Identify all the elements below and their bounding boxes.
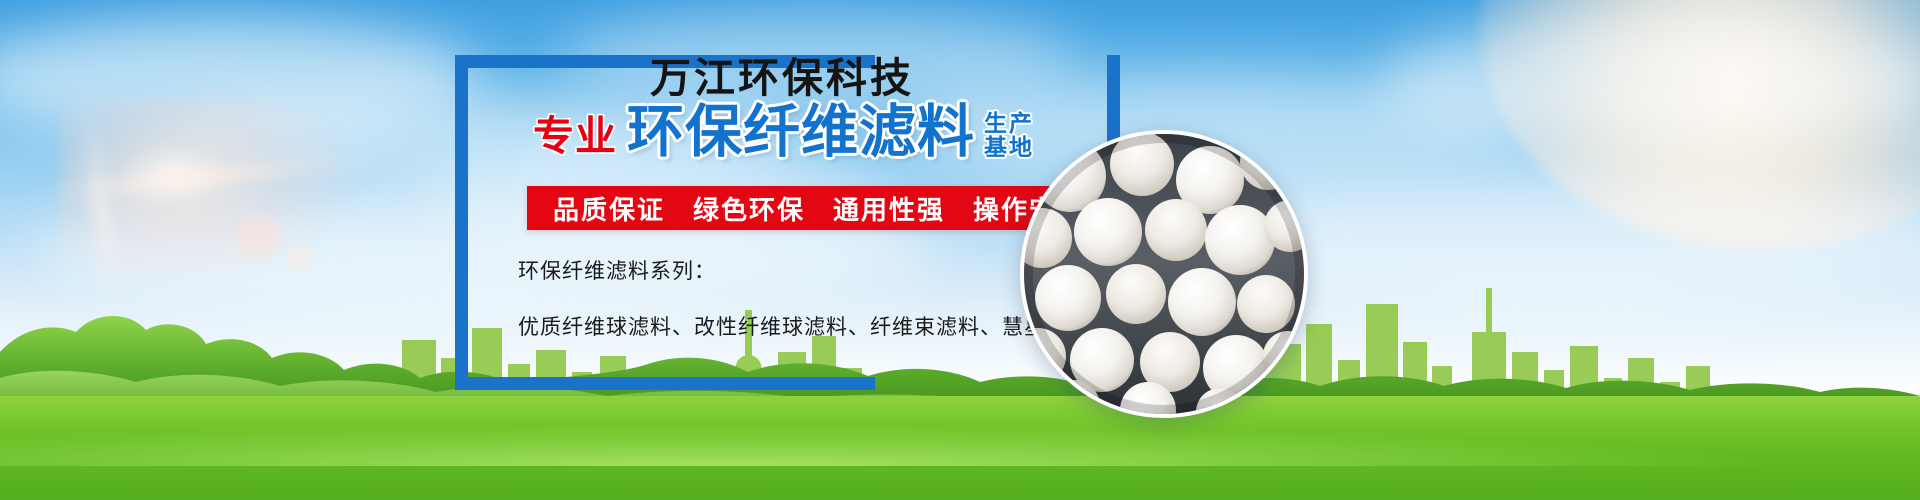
feature-bar: 品质保证 绿色环保 通用性强 操作安全 [527,186,1111,230]
company-name: 万江环保科技 [650,44,914,104]
headline-suffix-line2: 基地 [984,136,1034,159]
headline-suffix: 生产 基地 [984,112,1034,161]
headline-main: 环保纤维滤料 [627,104,975,161]
product-photo [1020,130,1308,418]
feature-item: 品质保证 [553,190,665,227]
headline-suffix-line1: 生产 [984,112,1034,135]
headline: 专业 环保纤维滤料 生产 基地 [533,104,1034,161]
sun-glow-decoration [1480,0,1920,250]
fiber-ball-filter-media-image [1024,134,1304,414]
headline-prefix: 专业 [533,116,617,161]
promo-banner: 万江环保科技 专业 环保纤维滤料 生产 基地 品质保证 绿色环保 通用性强 操作… [0,0,1920,500]
feature-item: 绿色环保 [693,190,805,227]
feature-item: 通用性强 [833,190,945,227]
grass-highlight [0,420,1920,466]
